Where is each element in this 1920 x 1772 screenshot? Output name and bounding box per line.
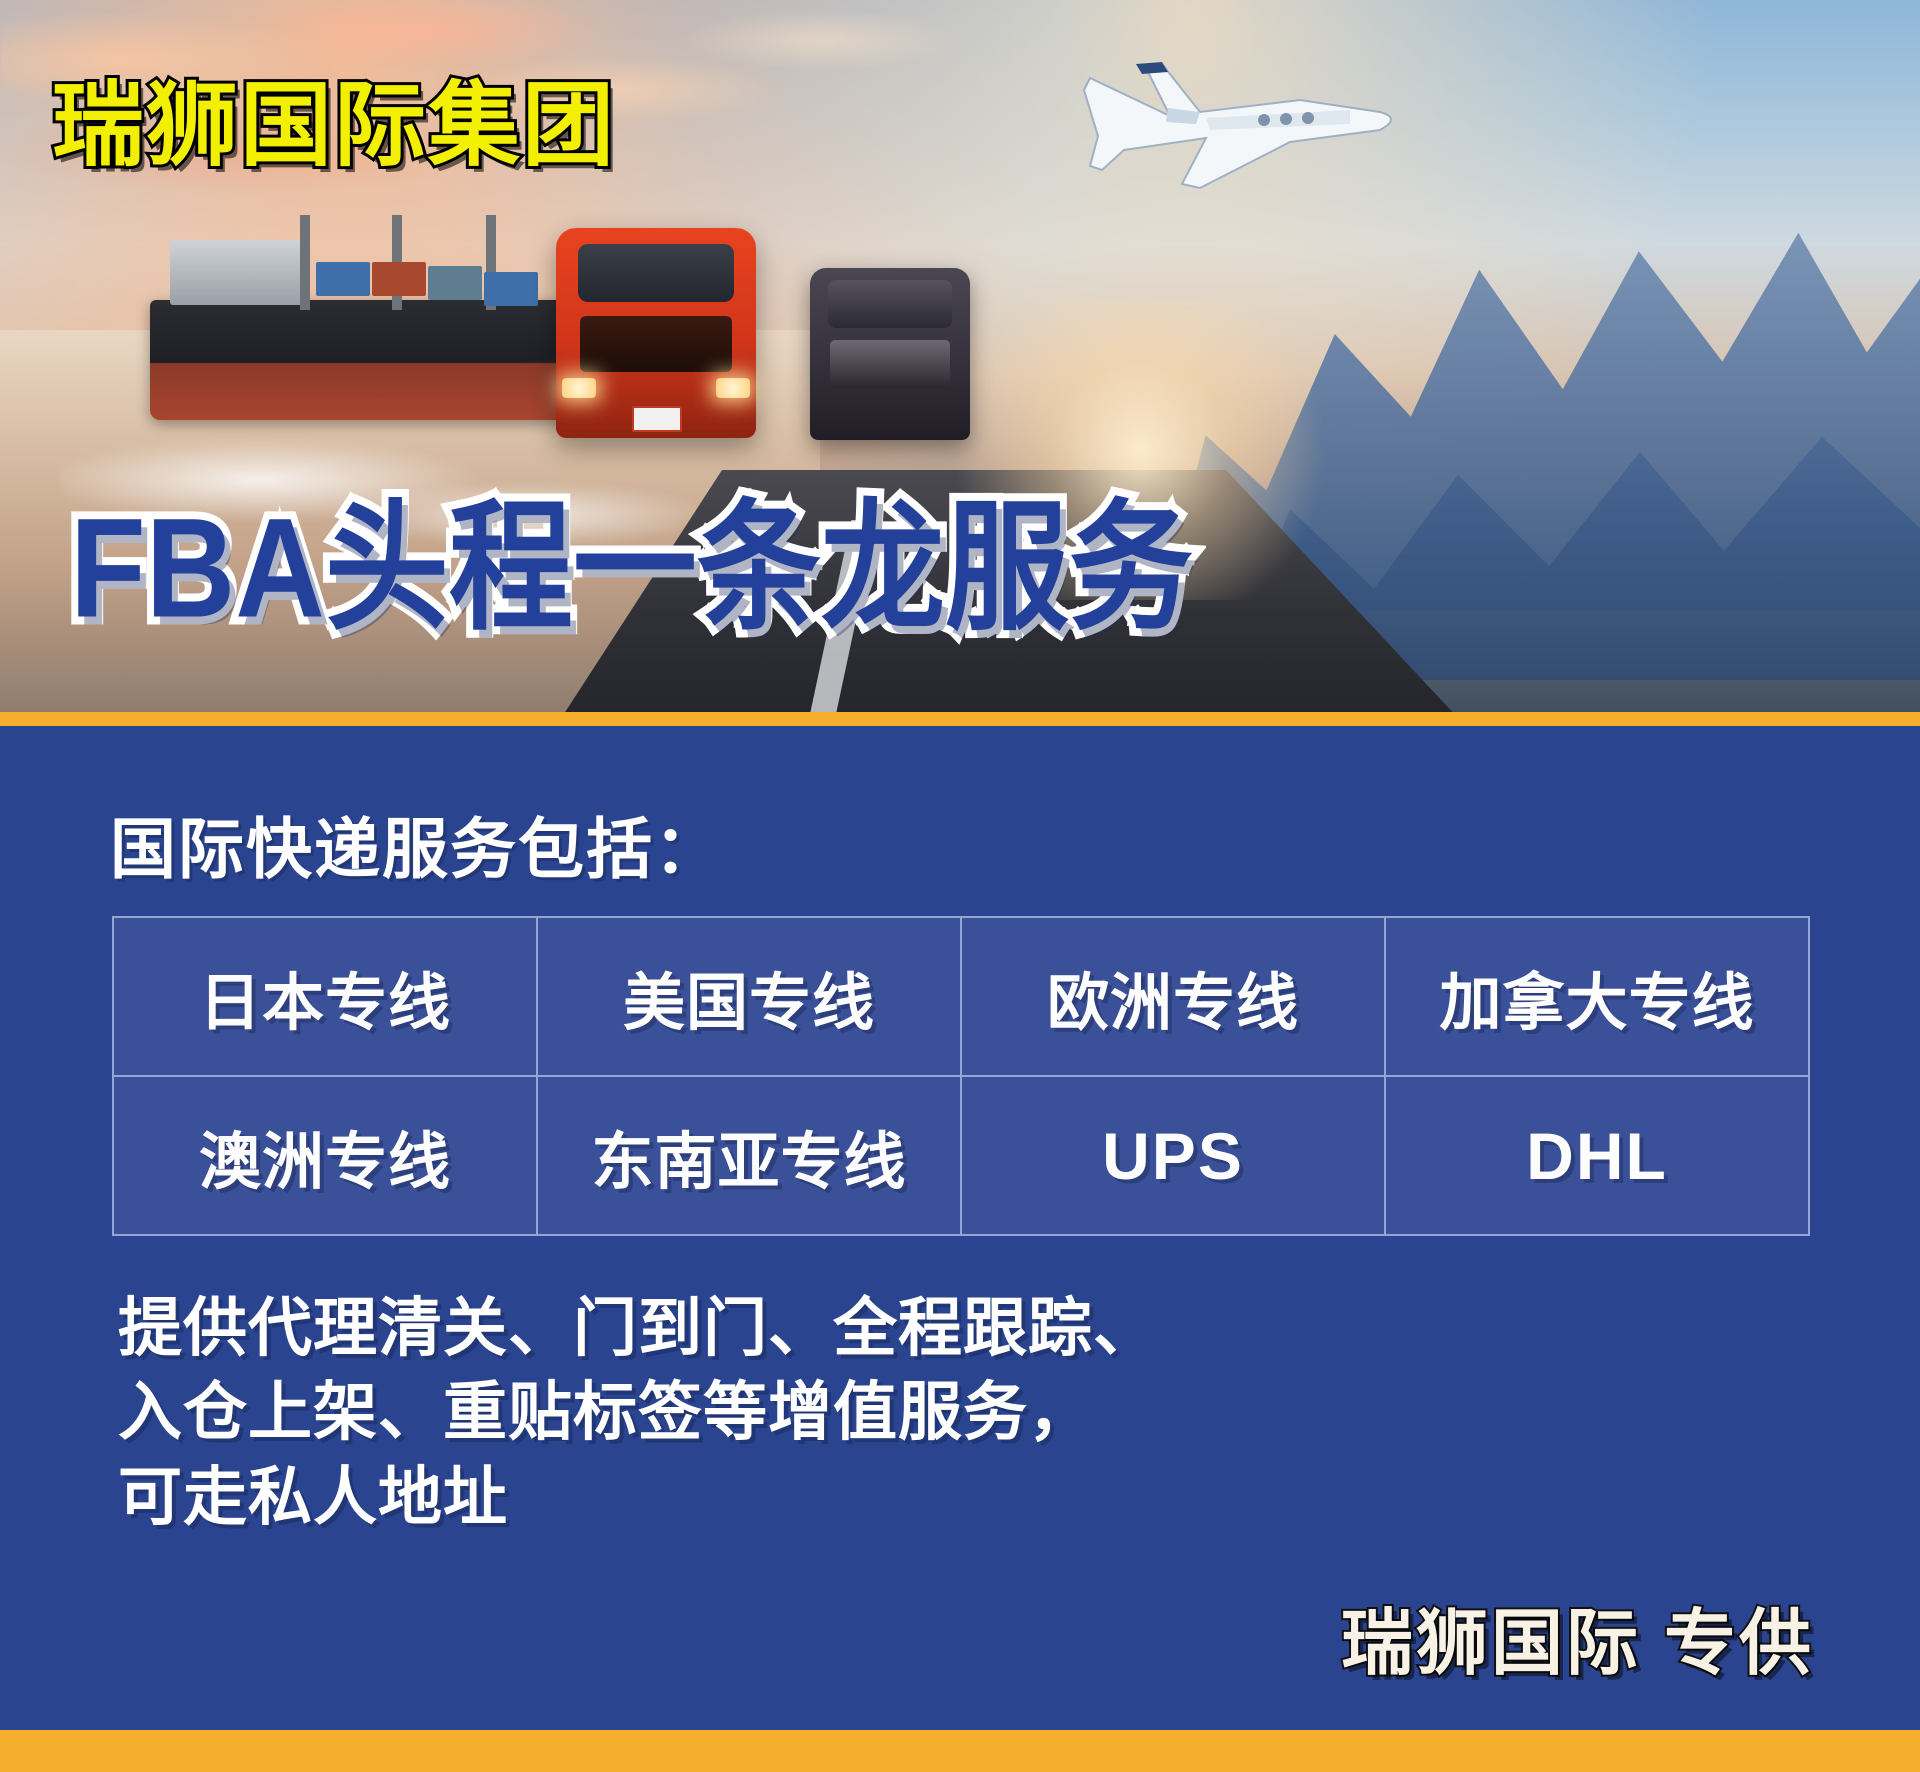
gold-divider	[0, 712, 1920, 726]
company-logo: 瑞狮国际集团	[52, 80, 616, 172]
table-row: 日本专线 美国专线 欧洲专线 加拿大专线	[113, 917, 1809, 1076]
table-row: 澳洲专线 东南亚专线 UPS DHL	[113, 1076, 1809, 1235]
section-title: 国际快递服务包括：	[110, 796, 722, 892]
hero-banner: 瑞狮国际集团 FBA头程一条龙服务	[0, 0, 1920, 718]
description-line-1: 提供代理清关、门到门、全程跟踪、	[118, 1286, 1158, 1370]
info-panel: 国际快递服务包括： 日本专线 美国专线 欧洲专线 加拿大专线 澳洲专线 东南亚专…	[0, 726, 1920, 1730]
footer-brand-mark: 瑞狮国际 专供	[1341, 1584, 1814, 1689]
service-cell-usa[interactable]: 美国专线	[537, 917, 961, 1076]
poster-root: 瑞狮国际集团 FBA头程一条龙服务 国际快递服务包括： 日本专线 美国专线 欧洲…	[0, 0, 1920, 1772]
description-line-3: 可走私人地址	[118, 1455, 1158, 1539]
description-line-2: 入仓上架、重贴标签等增值服务，	[118, 1370, 1158, 1454]
services-table: 日本专线 美国专线 欧洲专线 加拿大专线 澳洲专线 东南亚专线 UPS DHL	[112, 916, 1810, 1236]
service-cell-australia[interactable]: 澳洲专线	[113, 1076, 537, 1235]
service-cell-europe[interactable]: 欧洲专线	[961, 917, 1385, 1076]
service-cell-japan[interactable]: 日本专线	[113, 917, 537, 1076]
bottom-accent-bar	[0, 1730, 1920, 1772]
service-cell-ups[interactable]: UPS	[961, 1076, 1385, 1235]
red-truck-icon	[556, 228, 756, 438]
hero-headline: FBA头程一条龙服务	[70, 498, 1193, 639]
service-cell-sea[interactable]: 东南亚专线	[537, 1076, 961, 1235]
dark-truck-icon	[810, 268, 970, 440]
service-description: 提供代理清关、门到门、全程跟踪、 入仓上架、重贴标签等增值服务， 可走私人地址	[118, 1286, 1158, 1539]
service-cell-dhl[interactable]: DHL	[1385, 1076, 1809, 1235]
service-cell-canada[interactable]: 加拿大专线	[1385, 917, 1809, 1076]
airplane-icon	[1050, 38, 1410, 218]
